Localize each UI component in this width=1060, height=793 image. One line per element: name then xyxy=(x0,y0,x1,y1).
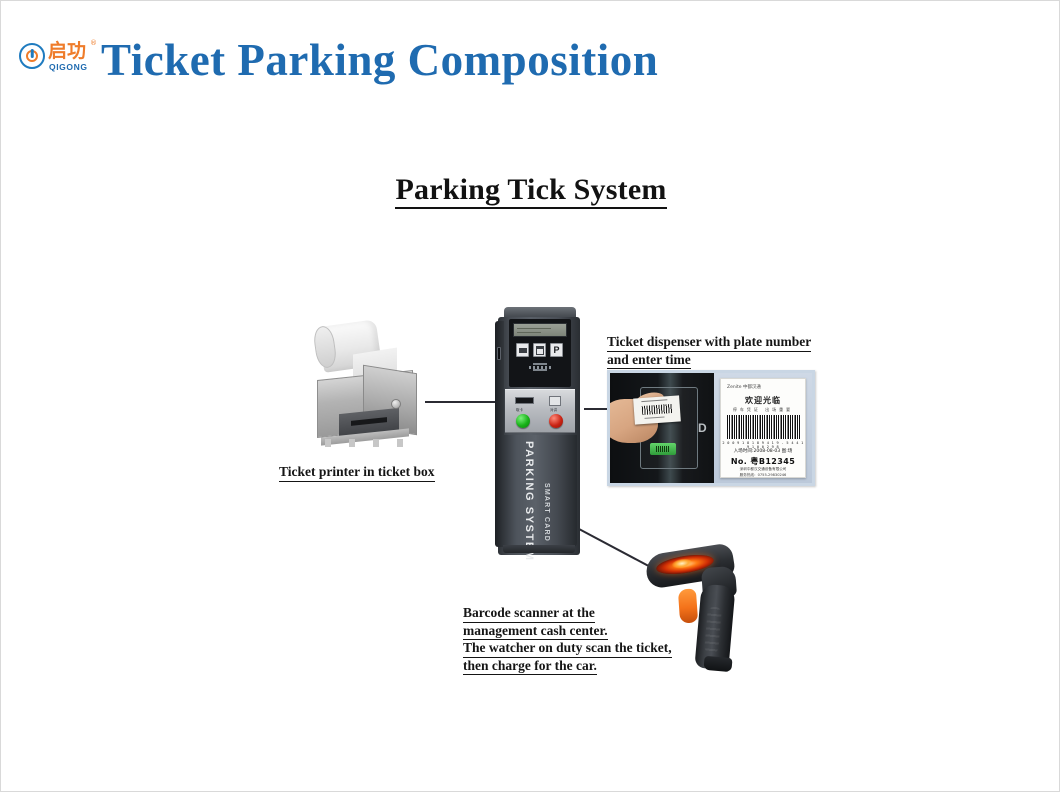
dispensed-ticket xyxy=(633,395,681,424)
label-ticket-dispenser: Ticket dispenser with plate number and e… xyxy=(607,334,811,369)
terminal-control-panel: 取卡 对讲 xyxy=(505,389,575,433)
label-scanner-line4: then charge for the car. xyxy=(463,658,597,676)
terminal-side-slot xyxy=(497,347,501,360)
scanner-trigger[interactable] xyxy=(678,588,698,623)
label-scanner-line1: Barcode scanner at the xyxy=(463,605,595,623)
terminal-lcd-display xyxy=(513,323,567,337)
printer-tab xyxy=(349,439,355,447)
terminal-card-slot[interactable] xyxy=(515,397,534,404)
label-scanner-line2: management cash center. xyxy=(463,623,608,641)
connector-terminal-to-dispenser xyxy=(584,408,608,410)
ticket-sample-photo: Zenite 中都汉通 欢迎光临 停车凭证 出场重要 2 0 0 9 1 8 1… xyxy=(714,373,812,483)
ticket-company: 深圳中都汉交通设备有限公司 xyxy=(721,467,805,472)
diagram-canvas: P 取卡 对讲 PARKING SYSTEM SMART CARD xyxy=(1,1,1060,793)
printer-tab xyxy=(397,439,403,447)
ticket-entry-time: 入场时间:2008-08-03 图:场 xyxy=(721,448,805,454)
card-icon[interactable] xyxy=(516,343,529,357)
terminal-sensor-area xyxy=(525,363,555,379)
label-dispenser-line2: and enter time xyxy=(607,352,691,370)
dispenser-green-indicator xyxy=(650,443,676,455)
printer-knob xyxy=(391,399,401,409)
parking-p-icon[interactable]: P xyxy=(550,343,563,357)
label-barcode-scanner: Barcode scanner at the management cash c… xyxy=(463,605,672,675)
scanner-base xyxy=(703,656,732,672)
dispensed-ticket-barcode xyxy=(642,404,673,415)
terminal-red-button[interactable] xyxy=(549,414,563,428)
terminal-lower-body: PARKING SYSTEM SMART CARD xyxy=(501,435,577,547)
terminal-mini-screen xyxy=(549,396,561,406)
terminal-front-face: P xyxy=(509,319,571,387)
ticket-brand: Zenite 中都汉通 xyxy=(727,384,761,390)
ticket-subheading: 停车凭证 出场重要 xyxy=(721,407,805,413)
terminal-brand-text: PARKING SYSTEM xyxy=(523,441,535,562)
printer-tab xyxy=(373,439,379,447)
parking-terminal-image: P 取卡 对讲 PARKING SYSTEM SMART CARD xyxy=(495,307,585,557)
label-ticket-printer-text: Ticket printer in ticket box xyxy=(279,464,435,482)
ticket-barcode xyxy=(727,415,801,439)
terminal-green-button[interactable] xyxy=(516,414,530,428)
label-scanner-line3: The watcher on duty scan the ticket, xyxy=(463,640,672,658)
dispenser-photo-panel: D Zenite 中都汉通 欢迎光临 停车凭证 出场重要 2 0 0 9 1 8… xyxy=(607,370,815,486)
ticket-heading: 欢迎光临 xyxy=(721,395,805,406)
green-button-label: 取卡 xyxy=(516,408,523,413)
ticket-plate-number: No. 粤B12345 xyxy=(721,456,805,467)
slide-canvas: 启功 ® QIGONG Ticket Parking Composition P… xyxy=(0,0,1060,792)
parking-ticket: Zenite 中都汉通 欢迎光临 停车凭证 出场重要 2 0 0 9 1 8 1… xyxy=(720,378,806,478)
label-ticket-printer: Ticket printer in ticket box xyxy=(279,464,435,482)
terminal-icon-row: P xyxy=(516,343,564,358)
label-dispenser-line1: Ticket dispenser with plate number xyxy=(607,334,811,352)
terminal-smartcard-text: SMART CARD xyxy=(543,483,550,542)
ticket-icon[interactable] xyxy=(533,343,546,357)
dispenser-panel-letter: D xyxy=(698,421,707,435)
red-button-label: 对讲 xyxy=(550,408,557,413)
ticket-printer-image xyxy=(303,323,425,453)
connector-printer-to-terminal xyxy=(425,401,497,403)
printer-tab xyxy=(325,439,331,447)
dispenser-machine-photo: D xyxy=(610,373,714,483)
terminal-base xyxy=(503,545,575,553)
ticket-hotline: 服务热线：0755-29830246 xyxy=(721,473,805,478)
